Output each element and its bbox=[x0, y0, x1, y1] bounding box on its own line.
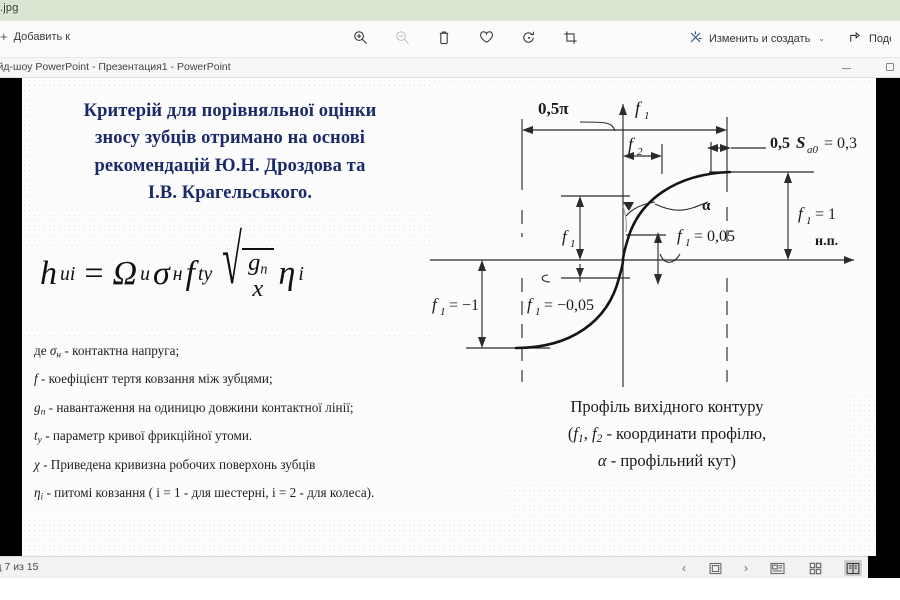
label-f1-eq-1-sub: 1 bbox=[806, 215, 812, 227]
powerpoint-window-title: Слайд-шоу PowerPoint - Презентация1 - Po… bbox=[0, 61, 231, 73]
prev-slide-chevron[interactable]: ‹ bbox=[682, 561, 686, 575]
magic-wand-icon bbox=[689, 30, 703, 47]
label-f1-eq-minus1-sub: 1 bbox=[440, 306, 446, 318]
chevron-down-icon: ⌄ bbox=[818, 34, 825, 43]
rotate-icon[interactable] bbox=[518, 27, 538, 47]
photos-toolbar: + Добавить к bbox=[0, 21, 900, 58]
page-bottom-fill bbox=[0, 578, 900, 600]
formula-equals: = bbox=[84, 255, 103, 293]
powerpoint-status-bar: Слайд 7 из 15 ‹ › bbox=[0, 556, 900, 578]
legend-text: - параметр кривої фрикційної утоми. bbox=[42, 428, 252, 443]
label-datum-line: н.п. bbox=[815, 234, 838, 249]
formula-eta-sub: i bbox=[298, 263, 303, 286]
minimize-icon[interactable] bbox=[838, 62, 854, 74]
slide-title: Критерій для порівняльної оцінки зносу з… bbox=[30, 98, 430, 208]
label-sa0-value: = 0,3 bbox=[824, 135, 857, 152]
formula-sigma-sub: н bbox=[173, 263, 183, 286]
diagram-caption-line-1: Профіль вихідного контуру bbox=[491, 394, 843, 421]
legend-symbol: g bbox=[34, 400, 41, 415]
wear-formula: hui = Ωuσнfty √ gn x ηi bbox=[30, 246, 450, 302]
rack-profile-diagram: 0,5π f 1 f 2 0,5 S a0 = 0,3 α f 1 = 1 f … bbox=[430, 82, 876, 392]
slide-navigation: ‹ › bbox=[682, 557, 862, 579]
label-sa0-sub: a0 bbox=[807, 144, 819, 156]
window-controls bbox=[838, 58, 898, 78]
formula-lhs-base: h bbox=[40, 255, 57, 293]
formula-eta: η bbox=[279, 255, 296, 293]
slide-counter: Слайд 7 из 15 bbox=[0, 561, 39, 573]
formula-fraction-numerator: gn bbox=[247, 251, 268, 277]
diagram-caption: Профіль вихідного контуру (f1, f2 - коор… bbox=[487, 388, 847, 485]
status-bar-black-edge bbox=[868, 556, 900, 578]
add-to-button[interactable]: + Добавить к bbox=[0, 30, 70, 43]
filename-band: .jpg bbox=[0, 0, 900, 21]
slide-sorter-icon[interactable] bbox=[806, 560, 824, 576]
label-f1-eq-1-value: = 1 bbox=[815, 206, 836, 223]
delete-icon[interactable] bbox=[434, 27, 454, 47]
caption-comma: , bbox=[584, 424, 592, 443]
label-f2-sub: 2 bbox=[637, 146, 643, 158]
toolbar-right-group: Изменить и создать ⌄ Поделиться bbox=[684, 27, 896, 50]
formula-sigma: σ bbox=[153, 255, 170, 293]
powerpoint-title-bar: Слайд-шоу PowerPoint - Презентация1 - Po… bbox=[0, 58, 900, 78]
slide-view-icon[interactable] bbox=[706, 560, 724, 576]
legend-text: - питомі ковзання ( i = 1 - для шестерні… bbox=[43, 485, 374, 500]
share-button[interactable]: Поделиться bbox=[844, 27, 896, 50]
label-f1-axis-sub: 1 bbox=[644, 110, 650, 122]
formula-lhs-sub: ui bbox=[60, 263, 75, 286]
share-icon bbox=[849, 30, 863, 47]
label-half-pi: 0,5π bbox=[538, 99, 569, 118]
caption-alpha: α bbox=[598, 451, 607, 470]
legend-text: - коефіцієнт тертя ковзання між зубцями; bbox=[38, 371, 273, 386]
formula-f-exponent: ty bbox=[198, 263, 212, 286]
slide-title-line-4: І.В. Крагельського. bbox=[30, 180, 430, 207]
plus-icon: + bbox=[0, 30, 8, 43]
slide-title-line-2: зносу зубців отримано на основі bbox=[30, 125, 430, 152]
legend-text: - навантаження на одиницю довжини контак… bbox=[45, 400, 353, 415]
add-to-label: Добавить к bbox=[14, 31, 70, 43]
label-f1-eq-minus005-sub: 1 bbox=[535, 306, 541, 318]
label-alpha: α bbox=[702, 198, 711, 214]
label-half-sa0: 0,5 bbox=[770, 135, 790, 152]
diagram-caption-line-3: α - профільний кут) bbox=[491, 448, 843, 475]
legend-row: ηi - питомі ковзання ( i = 1 - для шесте… bbox=[34, 486, 504, 503]
formula-fraction: gn x bbox=[242, 248, 273, 302]
label-f1-eq-005-value: = 0,05 bbox=[694, 228, 735, 245]
legend-row: gn - навантаження на одиницю довжини кон… bbox=[34, 401, 504, 418]
diagram-caption-line-2: (f1, f2 - координати профілю, bbox=[491, 421, 843, 449]
slide-title-line-3: рекомендацій Ю.Н. Дроздова та bbox=[30, 153, 430, 180]
legend-text: - контактна напруга; bbox=[61, 343, 179, 358]
formula-omega: Ω bbox=[113, 255, 138, 293]
formula-fraction-denominator: x bbox=[251, 277, 264, 302]
presenter-view-icon[interactable] bbox=[844, 560, 862, 576]
formula-f: f bbox=[186, 255, 195, 293]
caption-line3-text: - профільний кут) bbox=[607, 451, 736, 470]
favorite-heart-icon[interactable] bbox=[476, 27, 496, 47]
presentation-slide: Критерій для порівняльної оцінки зносу з… bbox=[22, 78, 876, 556]
legend-row: χ - Приведена кривизна робочих поверхонь… bbox=[34, 458, 504, 475]
crop-icon[interactable] bbox=[560, 27, 580, 47]
formula-gn-base: g bbox=[248, 249, 260, 276]
legend-row: ty - параметр кривої фрикційної утоми. bbox=[34, 429, 504, 446]
toolbar-icon-group bbox=[350, 27, 580, 47]
zoom-in-icon[interactable] bbox=[350, 27, 370, 47]
formula-radical: √ gn x bbox=[221, 246, 273, 302]
label-sa0-symbol: S bbox=[796, 133, 805, 152]
zoom-out-icon[interactable] bbox=[392, 27, 412, 47]
filename-label: .jpg bbox=[0, 2, 19, 14]
edit-and-create-label: Изменить и создать bbox=[709, 33, 810, 45]
label-f1-eq-minus1-value: = −1 bbox=[449, 297, 479, 314]
square-root-icon: √ bbox=[222, 225, 242, 323]
formula-omega-sub: u bbox=[140, 263, 150, 286]
caption-line2-text: - координати профілю, bbox=[602, 424, 766, 443]
label-f1-eq-005-sub: 1 bbox=[685, 237, 691, 249]
next-slide-chevron[interactable]: › bbox=[744, 561, 748, 575]
share-label: Поделиться bbox=[869, 33, 891, 45]
restore-icon[interactable] bbox=[882, 62, 898, 74]
photos-app-chrome: .jpg + Добавить к bbox=[0, 0, 900, 58]
edit-and-create-button[interactable]: Изменить и создать ⌄ bbox=[684, 27, 830, 50]
label-f1-dim-sub: 1 bbox=[570, 238, 576, 250]
legend-text: - Приведена кривизна робочих поверхонь з… bbox=[40, 457, 316, 472]
slide-title-line-1: Критерій для порівняльної оцінки bbox=[30, 98, 430, 125]
slideshow-stage: Критерій для порівняльної оцінки зносу з… bbox=[0, 78, 900, 556]
reading-view-icon[interactable] bbox=[768, 560, 786, 576]
legend-prefix: де bbox=[34, 343, 50, 358]
label-f1-eq-minus005-value: = −0,05 bbox=[544, 297, 594, 314]
